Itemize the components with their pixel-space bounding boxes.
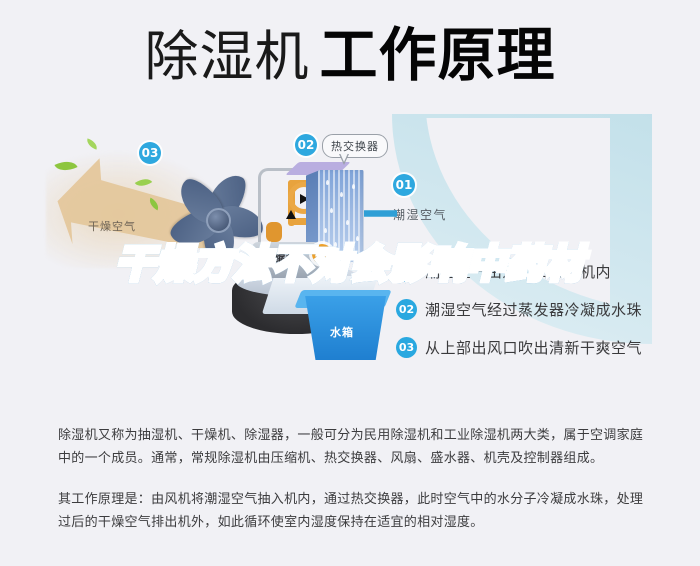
fan-hub bbox=[206, 208, 231, 233]
legend-number-badge: 03 bbox=[396, 337, 417, 358]
diagram-marker-02: 02 bbox=[295, 134, 317, 156]
page-title: 除湿机工作原理 bbox=[0, 26, 700, 84]
water-droplet-icon bbox=[324, 228, 327, 233]
water-droplet-icon bbox=[356, 236, 359, 241]
water-tank-label: 水箱 bbox=[330, 324, 354, 340]
body-copy: 除湿机又称为抽湿机、干燥机、除湿器，一般可分为民用除湿机和工业除湿机两大类，属于… bbox=[58, 424, 648, 534]
dry-air-label: 干燥空气 bbox=[88, 218, 136, 234]
water-droplet-icon bbox=[340, 192, 343, 197]
heat-exchanger-callout: 热交换器 bbox=[322, 134, 388, 158]
overlay-headline-text: 干燥方法不对会影响中药材 bbox=[116, 242, 584, 286]
infographic-page: 除湿机工作原理 干燥空气 潮湿空气 bbox=[0, 0, 700, 566]
copy-paragraph-1: 除湿机又称为抽湿机、干燥机、除湿器，一般可分为民用除湿机和工业除湿机两大类，属于… bbox=[58, 424, 648, 470]
water-droplet-icon bbox=[330, 208, 333, 213]
water-droplet-icon bbox=[326, 180, 329, 185]
legend-item-label: 从上部出风口吹出清新干爽空气 bbox=[425, 337, 642, 358]
water-droplet-icon bbox=[352, 184, 355, 189]
overlay-headline: 干燥方法不对会影响中药材 bbox=[0, 243, 700, 285]
legend-item-label: 潮湿空气经过蒸发器冷凝成水珠 bbox=[425, 299, 642, 320]
legend-item: 03 从上部出风口吹出清新干爽空气 bbox=[396, 328, 696, 366]
humid-air-label: 潮湿空气 bbox=[393, 206, 447, 223]
diagram-marker-01: 01 bbox=[393, 174, 415, 196]
legend-item: 02 潮湿空气经过蒸发器冷凝成水珠 bbox=[396, 290, 696, 328]
copy-paragraph-2: 其工作原理是：由风机将潮湿空气抽入机内，通过热交换器，此时空气中的水分子冷凝成水… bbox=[58, 488, 648, 534]
page-title-light: 除湿机 bbox=[144, 25, 309, 88]
diagram-marker-03: 03 bbox=[139, 142, 161, 164]
water-droplet-icon bbox=[346, 220, 349, 225]
callout-pointer-icon bbox=[339, 154, 349, 165]
receiver-tank-icon bbox=[266, 222, 282, 242]
flow-arrow-up-icon bbox=[286, 210, 296, 219]
legend-number-badge: 02 bbox=[396, 299, 417, 320]
page-title-bold: 工作原理 bbox=[319, 21, 555, 89]
